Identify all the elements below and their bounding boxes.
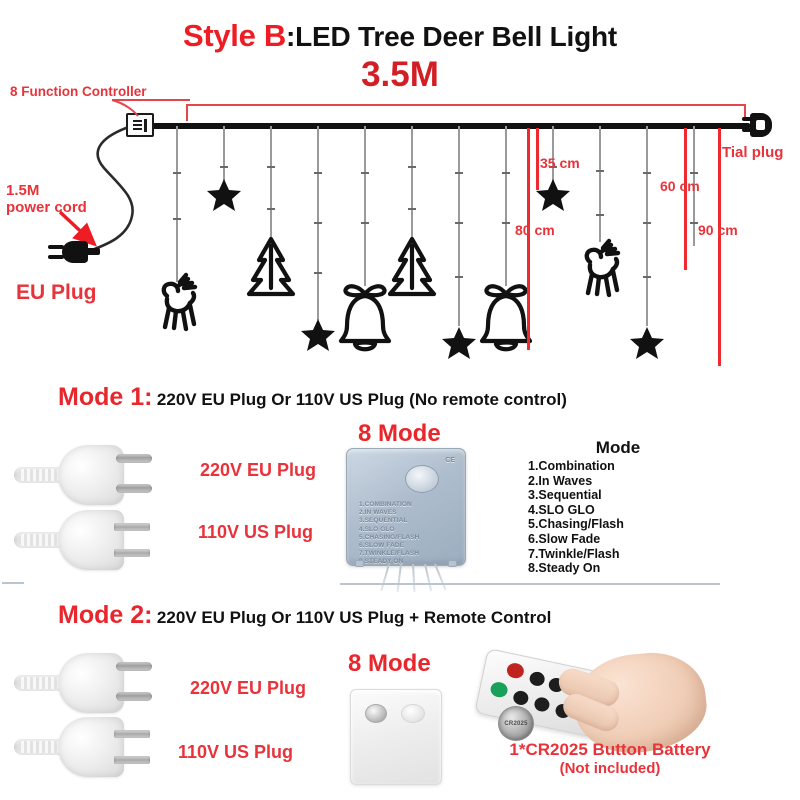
mode1-eight-mode-label: 8 Mode [358, 420, 441, 448]
controller-output-wires [360, 564, 460, 594]
controller-screw [365, 704, 387, 723]
mode-list-item: 7.Twinkle/Flash [528, 547, 708, 562]
dimension-line-80 [527, 128, 530, 350]
ornament-tree [245, 236, 297, 305]
drop-strand [505, 126, 507, 286]
dimension-line-90 [718, 128, 721, 366]
mode-list-item: 4.SLO GLO [528, 503, 708, 518]
dimension-label-80: 80 cm [515, 222, 555, 238]
mode-list: Mode 1.Combination 2.In Waves 3.Sequenti… [528, 438, 708, 576]
ornament-deer [150, 272, 204, 349]
mode2-eight-mode-label: 8 Mode [348, 650, 431, 678]
remote-power-button[interactable] [506, 662, 526, 680]
section-divider [340, 583, 720, 585]
ornament-star [629, 326, 665, 365]
ornament-star [206, 178, 242, 218]
controller-mode-emboss: 1.COMBINATION 2.IN WAVES 3.SEQUENTIAL 4.… [359, 501, 457, 567]
mode1-heading: Mode 1: 220V EU Plug Or 110V US Plug (No… [58, 383, 567, 412]
product-infographic: Style B:LED Tree Deer Bell Light 3.5M 8 … [0, 0, 800, 800]
ornament-star [441, 326, 477, 365]
drop-strand [317, 126, 319, 320]
mode2-eu-plug-photo [14, 648, 194, 718]
controller-ce-logo: CE [445, 457, 455, 464]
mode2-heading: Mode 2: 220V EU Plug Or 110V US Plug + R… [58, 601, 551, 630]
mode1-heading-colon: : [144, 383, 152, 411]
mode2-heading-colon: : [144, 601, 152, 629]
mode-list-item: 2.In Waves [528, 474, 708, 489]
drop-strand [270, 126, 272, 240]
drop-strand [223, 126, 225, 184]
controller-button[interactable] [405, 465, 439, 493]
remote-button[interactable] [528, 670, 546, 687]
dimension-label-60: 60 cm [660, 178, 700, 194]
mode-list-title: Mode [528, 438, 708, 458]
drop-strand [364, 126, 366, 286]
cr2025-battery: CR2025 [498, 706, 534, 741]
drop-strand [458, 126, 460, 326]
mode-list-item: 5.Chasing/Flash [528, 517, 708, 532]
mode2-controller-box [350, 689, 442, 785]
remote-mode-button[interactable] [489, 681, 509, 699]
battery-face-text: CR2025 [499, 707, 533, 740]
mode-list-item: 6.Slow Fade [528, 532, 708, 547]
mode-list-item: 8.Steady On [528, 561, 708, 576]
dimension-label-35: 35 cm [540, 155, 580, 171]
controller-button[interactable] [401, 704, 425, 723]
mode1-heading-red: Mode 1 [58, 383, 144, 411]
mode2-us-plug-label: 110V US Plug [178, 742, 293, 763]
battery-caption-line2: (Not included) [460, 760, 760, 777]
drop-strand [646, 126, 648, 326]
tail-plug-label: Tial plug [722, 144, 783, 161]
mode-list-item: 1.Combination [528, 459, 708, 474]
ornament-tree [386, 236, 438, 305]
ornament-star [300, 318, 336, 357]
mode2-us-plug-photo [14, 712, 194, 782]
ornament-star [535, 178, 571, 217]
dimension-line-60 [684, 128, 687, 270]
mode2-eu-plug-label: 220V EU Plug [190, 678, 306, 699]
tail-plug-icon [742, 108, 772, 142]
mode1-eu-plug-photo [14, 440, 194, 510]
dimension-line-35 [536, 128, 539, 190]
battery-caption: 1*CR2025 Button Battery (Not included) [460, 740, 760, 777]
section-divider-left [2, 582, 24, 584]
mode1-us-plug-photo [14, 505, 194, 575]
battery-caption-line1: 1*CR2025 Button Battery [460, 740, 760, 760]
eu-plug-label: EU Plug [16, 281, 97, 305]
remote-button[interactable] [512, 690, 530, 707]
drop-strand [599, 126, 601, 242]
mode1-us-plug-label: 110V US Plug [198, 522, 313, 543]
drop-strand [176, 126, 178, 282]
dimension-label-90: 90 cm [698, 222, 738, 238]
light-string-diagram: 8 Function Controller 1.5M power cord [0, 0, 800, 378]
remote-button[interactable] [533, 696, 551, 713]
eu-plug-icon [48, 237, 94, 267]
ornament-deer [573, 238, 627, 315]
mode1-eu-plug-label: 220V EU Plug [200, 460, 316, 481]
drop-strand [411, 126, 413, 240]
mode1-controller-box: CE 1.COMBINATION 2.IN WAVES 3.SEQUENTIAL… [346, 448, 466, 566]
mode2-heading-red: Mode 2 [58, 601, 144, 629]
mode1-heading-black: 220V EU Plug Or 110V US Plug (No remote … [157, 390, 567, 409]
mode-list-item: 3.Sequential [528, 488, 708, 503]
mode2-heading-black: 220V EU Plug Or 110V US Plug + Remote Co… [157, 608, 551, 627]
